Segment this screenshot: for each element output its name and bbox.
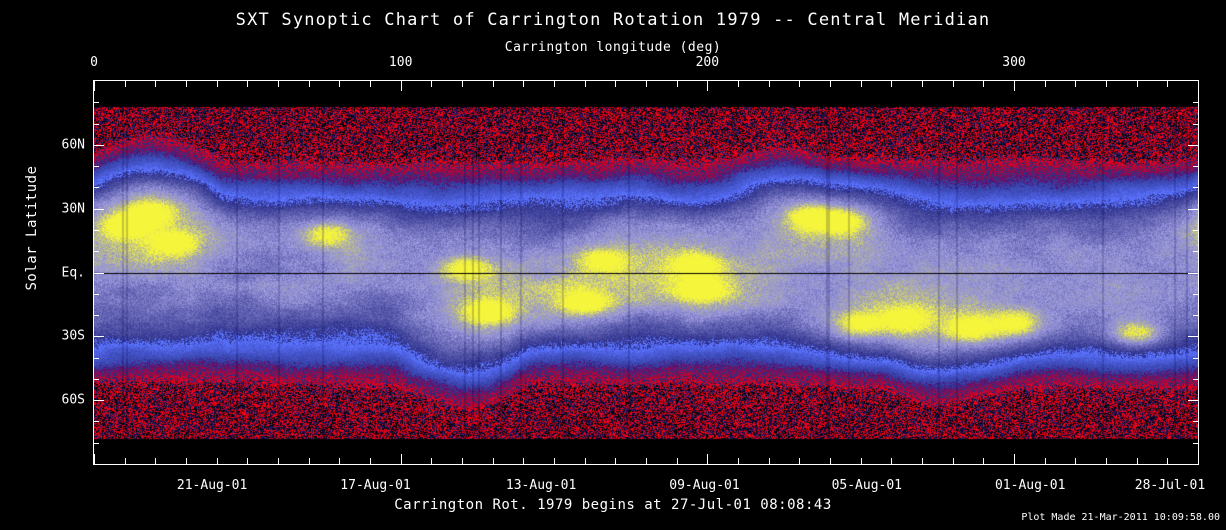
y-minor-r--40	[1193, 358, 1199, 359]
x-tick-bottom-160	[585, 458, 586, 465]
y-minor--70	[93, 421, 99, 422]
x-tick-top-100	[401, 80, 402, 91]
y-minor-70	[93, 124, 99, 125]
x-tick-bottom-110	[431, 458, 432, 465]
y-minor-r-50	[1193, 166, 1199, 167]
x-tick-top-20	[155, 80, 156, 87]
y-tick-label-4: 60S	[31, 393, 85, 408]
x-tick-label-3: 300	[1002, 55, 1025, 70]
x-tick-top-40	[217, 80, 218, 87]
x-tick-bottom-150	[554, 458, 555, 465]
x-tick-bottom-250	[861, 458, 862, 465]
date-tick-label-3: 09-Aug-01	[669, 478, 739, 493]
y-tick-label-0: 60N	[31, 138, 85, 153]
x-tick-bottom-30	[186, 458, 187, 465]
x-tick-bottom-140	[523, 458, 524, 465]
x-tick-bottom-50	[247, 458, 248, 465]
x-tick-bottom-320	[1075, 458, 1076, 465]
x-tick-bottom-90	[370, 458, 371, 465]
y-minor-r-20	[1193, 230, 1199, 231]
x-tick-label-2: 200	[696, 55, 719, 70]
x-tick-top-330	[1106, 80, 1107, 87]
x-tick-bottom-70	[309, 458, 310, 465]
x-tick-top-300	[1014, 80, 1015, 91]
x-tick-top-180	[646, 80, 647, 87]
x-tick-bottom-230	[799, 458, 800, 465]
y-minor-r--70	[1193, 421, 1199, 422]
x-tick-bottom-210	[738, 458, 739, 465]
x-tick-top-170	[615, 80, 616, 87]
y-tick-label-3: 30S	[31, 329, 85, 344]
date-tick-label-4: 05-Aug-01	[832, 478, 902, 493]
x-tick-top-160	[585, 80, 586, 87]
x-tick-top-360	[1198, 80, 1199, 87]
x-tick-bottom-280	[953, 458, 954, 465]
x-tick-top-190	[677, 80, 678, 87]
page-title: SXT Synoptic Chart of Carrington Rotatio…	[0, 10, 1226, 30]
y-tick-right-1	[1188, 209, 1199, 210]
y-tick-left-0	[93, 145, 104, 146]
x-tick-bottom-310	[1045, 458, 1046, 465]
x-tick-bottom-170	[615, 458, 616, 465]
x-tick-top-120	[462, 80, 463, 87]
y-minor--20	[93, 315, 99, 316]
x-tick-top-130	[493, 80, 494, 87]
x-tick-bottom-340	[1137, 458, 1138, 465]
y-minor-r--20	[1193, 315, 1199, 316]
x-tick-bottom-200	[707, 454, 708, 465]
y-minor--80	[93, 443, 99, 444]
x-tick-bottom-10	[125, 458, 126, 465]
x-tick-bottom-350	[1167, 458, 1168, 465]
x-tick-bottom-180	[646, 458, 647, 465]
x-tick-bottom-330	[1106, 458, 1107, 465]
x-tick-bottom-360	[1198, 458, 1199, 465]
y-minor-80	[93, 102, 99, 103]
date-tick-label-5: 01-Aug-01	[995, 478, 1065, 493]
y-tick-left-2	[93, 273, 104, 274]
x-tick-top-80	[339, 80, 340, 87]
y-tick-right-4	[1188, 400, 1199, 401]
x-axis-top-label: Carrington longitude (deg)	[0, 40, 1226, 55]
y-minor-50	[93, 166, 99, 167]
x-tick-bottom-120	[462, 458, 463, 465]
x-tick-top-150	[554, 80, 555, 87]
plot-made-timestamp: Plot Made 21-Mar-2011 10:09:58.00	[1021, 512, 1220, 523]
x-tick-bottom-270	[922, 458, 923, 465]
y-tick-label-1: 30N	[31, 202, 85, 217]
x-tick-top-230	[799, 80, 800, 87]
x-tick-top-250	[861, 80, 862, 87]
y-minor-40	[93, 187, 99, 188]
y-minor-r--10	[1193, 294, 1199, 295]
date-tick-label-2: 13-Aug-01	[506, 478, 576, 493]
y-tick-right-3	[1188, 336, 1199, 337]
x-tick-top-10	[125, 80, 126, 87]
x-tick-bottom-300	[1014, 454, 1015, 465]
plot-frame	[93, 80, 1199, 465]
x-tick-top-0	[94, 80, 95, 91]
x-tick-bottom-240	[830, 458, 831, 465]
x-tick-top-140	[523, 80, 524, 87]
x-tick-top-290	[983, 80, 984, 87]
y-minor-20	[93, 230, 99, 231]
x-tick-bottom-130	[493, 458, 494, 465]
x-tick-bottom-100	[401, 454, 402, 465]
y-minor--10	[93, 294, 99, 295]
x-tick-bottom-80	[339, 458, 340, 465]
x-tick-top-210	[738, 80, 739, 87]
x-tick-top-350	[1167, 80, 1168, 87]
y-tick-label-2: Eq.	[31, 266, 85, 281]
x-tick-top-110	[431, 80, 432, 87]
y-minor-10	[93, 251, 99, 252]
y-tick-right-0	[1188, 145, 1199, 146]
x-tick-top-70	[309, 80, 310, 87]
x-tick-bottom-220	[769, 458, 770, 465]
x-tick-bottom-60	[278, 458, 279, 465]
y-minor--50	[93, 379, 99, 380]
date-tick-label-0: 21-Aug-01	[177, 478, 247, 493]
y-minor-r--50	[1193, 379, 1199, 380]
x-tick-bottom-20	[155, 458, 156, 465]
date-tick-label-1: 17-Aug-01	[340, 478, 410, 493]
x-tick-bottom-190	[677, 458, 678, 465]
date-tick-label-6: 28-Jul-01	[1135, 478, 1205, 493]
x-tick-top-280	[953, 80, 954, 87]
y-axis-label: Solar Latitude	[24, 148, 40, 308]
x-tick-top-220	[769, 80, 770, 87]
y-minor--40	[93, 358, 99, 359]
y-minor-r-70	[1193, 124, 1199, 125]
x-tick-top-50	[247, 80, 248, 87]
sxt-synoptic-chart: SXT Synoptic Chart of Carrington Rotatio…	[0, 0, 1226, 530]
x-tick-top-320	[1075, 80, 1076, 87]
x-tick-bottom-40	[217, 458, 218, 465]
y-tick-left-4	[93, 400, 104, 401]
y-tick-left-3	[93, 336, 104, 337]
y-minor-r-80	[1193, 102, 1199, 103]
x-tick-label-1: 100	[389, 55, 412, 70]
x-tick-top-260	[891, 80, 892, 87]
y-tick-left-1	[93, 209, 104, 210]
x-tick-top-60	[278, 80, 279, 87]
x-tick-top-90	[370, 80, 371, 87]
x-tick-top-310	[1045, 80, 1046, 87]
x-tick-bottom-0	[94, 454, 95, 465]
x-tick-top-200	[707, 80, 708, 91]
x-tick-label-0: 0	[90, 55, 98, 70]
x-tick-top-270	[922, 80, 923, 87]
x-tick-top-340	[1137, 80, 1138, 87]
x-tick-top-240	[830, 80, 831, 87]
x-tick-bottom-290	[983, 458, 984, 465]
y-minor-r-10	[1193, 251, 1199, 252]
x-tick-top-30	[186, 80, 187, 87]
y-tick-right-2	[1188, 273, 1199, 274]
rotation-start-caption: Carrington Rot. 1979 begins at 27-Jul-01…	[0, 497, 1226, 513]
x-tick-bottom-260	[891, 458, 892, 465]
y-minor-r--80	[1193, 443, 1199, 444]
y-minor-r-40	[1193, 187, 1199, 188]
